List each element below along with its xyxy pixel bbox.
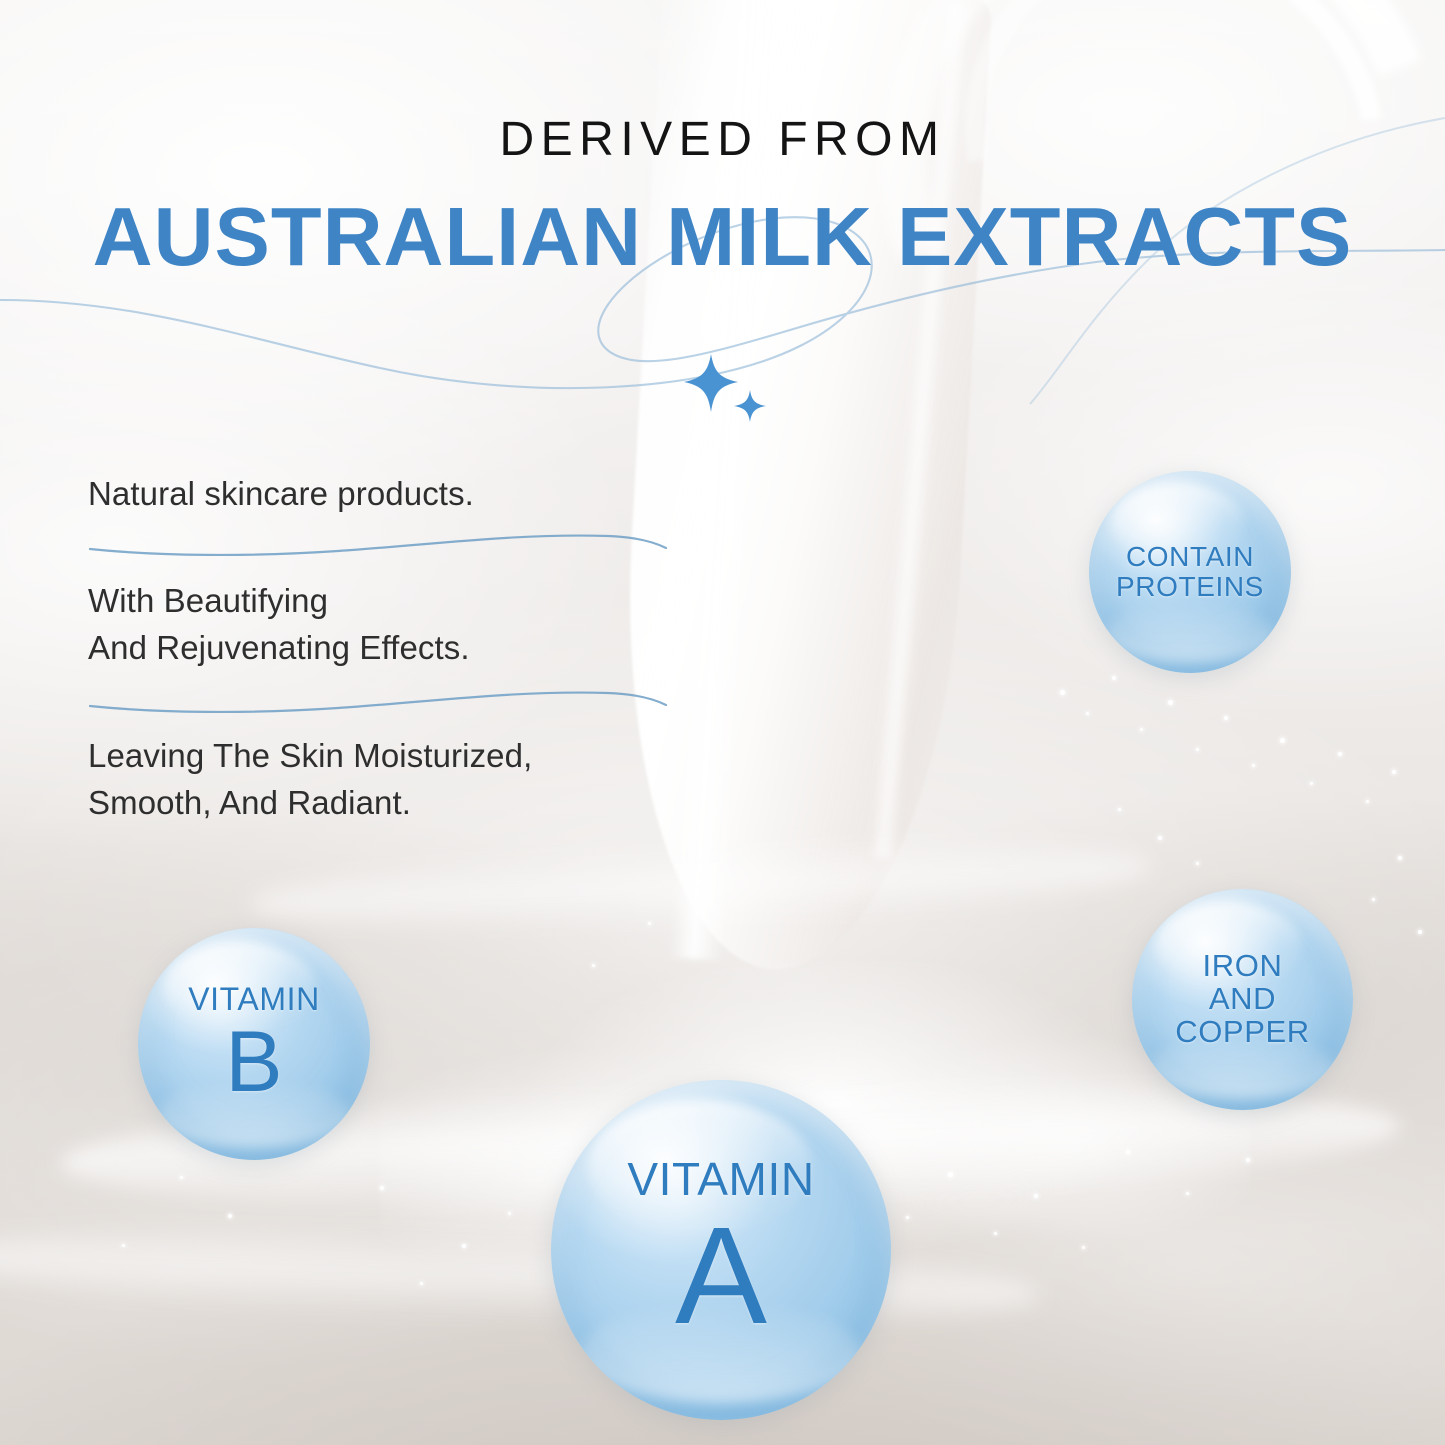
bubble-vitamin-b: VITAMIN B xyxy=(138,928,370,1160)
bubble-line: VITAMIN xyxy=(188,983,320,1017)
bubble-letter: B xyxy=(188,1019,320,1105)
bubble-line: PROTEINS xyxy=(1116,572,1264,602)
copy-paragraph-3-line-1: Leaving The Skin Moisturized, xyxy=(88,732,688,779)
bubble-line: IRON xyxy=(1175,950,1310,983)
bubble-label: VITAMIN B xyxy=(188,983,320,1105)
bubble-line: CONTAIN xyxy=(1116,542,1264,572)
bubble-vitamin-a: VITAMIN A xyxy=(551,1080,891,1420)
copy-paragraph-1: Natural skincare products. xyxy=(88,470,688,517)
page-title: AUSTRALIAN MILK EXTRACTS xyxy=(0,195,1445,278)
copy-block: Natural skincare products. With Beautify… xyxy=(88,470,688,826)
copy-paragraph-2-line-1: With Beautifying xyxy=(88,577,688,624)
sparkle-icon xyxy=(678,352,774,422)
wave-divider-icon xyxy=(88,684,668,718)
bubble-letter: A xyxy=(627,1207,814,1345)
bubble-line: COPPER xyxy=(1175,1016,1310,1049)
eyebrow-text: DERIVED FROM xyxy=(0,112,1445,167)
bubble-contain-proteins: CONTAIN PROTEINS xyxy=(1089,471,1291,673)
copy-paragraph-3-line-2: Smooth, And Radiant. xyxy=(88,779,688,826)
bubble-label: CONTAIN PROTEINS xyxy=(1116,542,1264,601)
bubble-label: IRON AND COPPER xyxy=(1175,950,1310,1049)
milk-extract-poster: DERIVED FROM AUSTRALIAN MILK EXTRACTS Na… xyxy=(0,0,1445,1445)
bubble-label: VITAMIN A xyxy=(627,1155,814,1346)
bubble-line: AND xyxy=(1175,983,1310,1016)
bubble-line: VITAMIN xyxy=(627,1155,814,1204)
bubble-iron-and-copper: IRON AND COPPER xyxy=(1132,889,1353,1110)
wave-divider-icon xyxy=(88,529,668,563)
copy-paragraph-2-line-2: And Rejuvenating Effects. xyxy=(88,624,688,671)
